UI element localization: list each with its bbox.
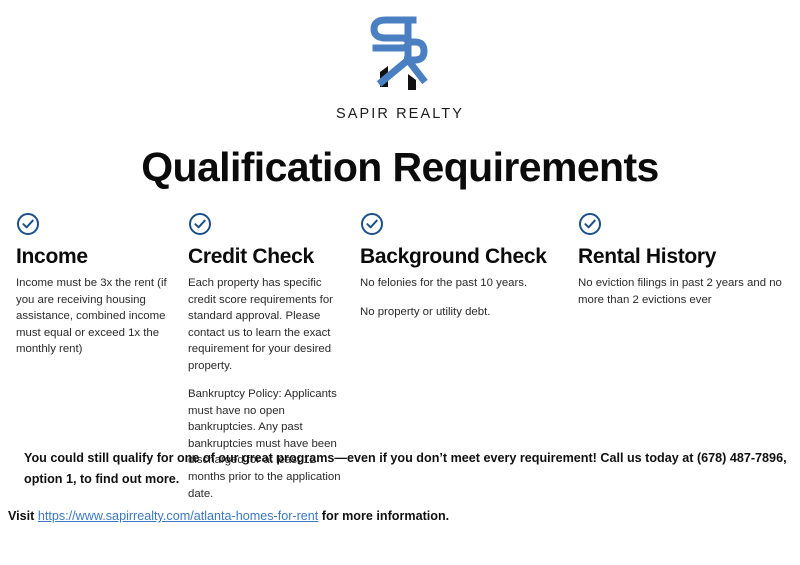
check-circle-icon: [360, 212, 566, 236]
column-heading: Background Check: [360, 245, 566, 269]
requirement-column-rental-history: Rental History No eviction filings in pa…: [578, 212, 800, 308]
check-circle-icon: [188, 212, 348, 236]
check-circle-icon: [578, 212, 788, 236]
column-paragraph: No felonies for the past 10 years.: [360, 275, 566, 292]
call-to-action-text: You could still qualify for one of our g…: [24, 448, 800, 490]
requirement-column-income: Income Income must be 3x the rent (if yo…: [0, 212, 186, 358]
page-title: Qualification Requirements: [0, 146, 800, 189]
column-heading: Rental History: [578, 245, 788, 269]
column-heading: Income: [16, 245, 174, 269]
visit-suffix: for more information.: [318, 509, 449, 523]
column-paragraph: No eviction filings in past 2 years and …: [578, 275, 788, 308]
sapir-realty-sr-monogram-icon: [368, 12, 432, 104]
column-paragraph: No property or utility debt.: [360, 304, 566, 321]
footer-call-to-action: You could still qualify for one of our g…: [0, 448, 800, 490]
column-paragraph: Each property has specific credit score …: [188, 275, 348, 374]
column-heading: Credit Check: [188, 245, 348, 269]
column-paragraph: Income must be 3x the rent (if you are r…: [16, 275, 174, 358]
check-circle-icon: [16, 212, 174, 236]
website-link[interactable]: https://www.sapirrealty.com/atlanta-home…: [38, 509, 318, 523]
visit-prefix: Visit: [8, 509, 38, 523]
visit-line: Visit https://www.sapirrealty.com/atlant…: [8, 507, 800, 526]
requirement-column-background-check: Background Check No felonies for the pas…: [360, 212, 578, 320]
brand-wordmark: SAPIR REALTY: [336, 106, 464, 122]
footer-visit-line: Visit https://www.sapirrealty.com/atlant…: [0, 507, 800, 526]
brand-logo-block: SAPIR REALTY: [0, 0, 800, 122]
